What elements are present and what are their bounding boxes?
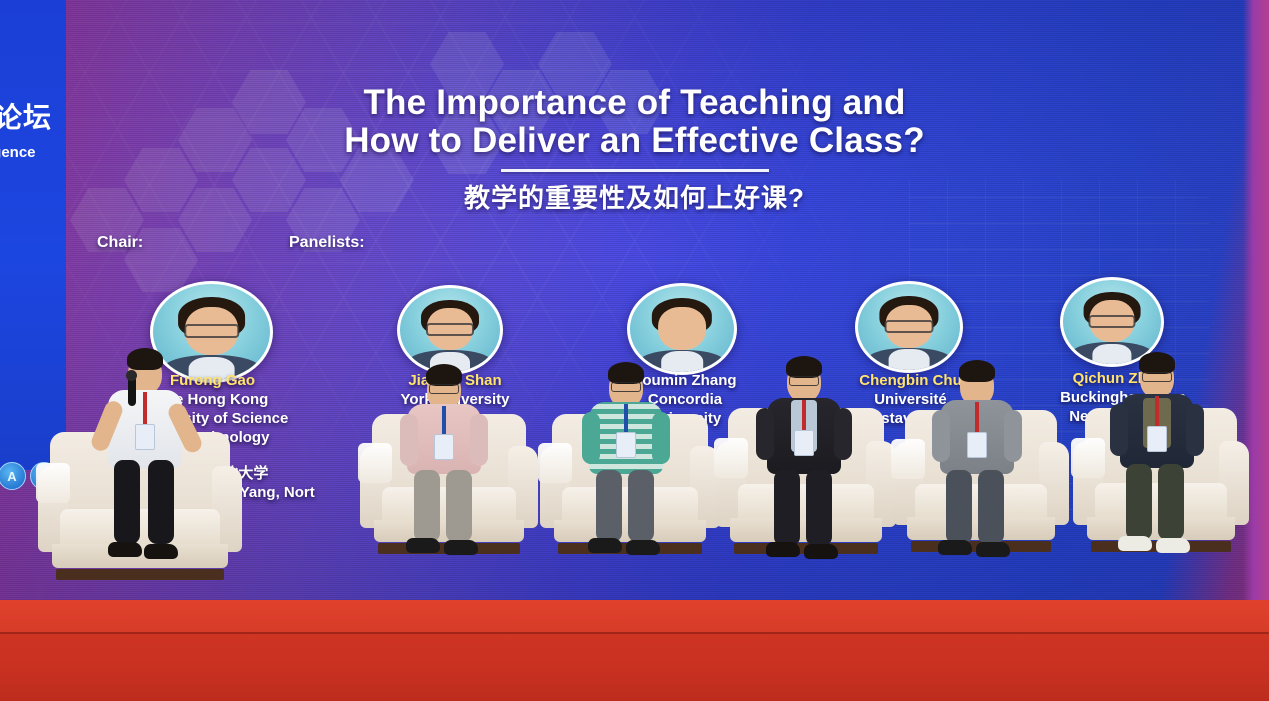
person-arm-left [582, 412, 600, 464]
chair-arm-cover [538, 443, 572, 483]
person-arm-right [470, 414, 488, 466]
name-badge [135, 424, 155, 450]
person-hair [786, 356, 822, 378]
person-shoe-right [444, 540, 478, 555]
person-shoe-left [938, 540, 972, 555]
glasses-icon [885, 320, 934, 333]
person-panelist-youmin-zhang [582, 364, 670, 564]
person-shoe-right [144, 544, 178, 559]
panel-session-photo: The Importance of Teaching and How to De… [0, 0, 1269, 701]
side-banner-chinese: 论坛 [0, 96, 66, 136]
person-arm-left [756, 408, 774, 460]
glasses-icon [789, 376, 819, 386]
chair-arm-cover [891, 439, 925, 479]
person-hair [1139, 352, 1175, 374]
person-arm-left [1110, 404, 1128, 456]
lanyard [1155, 396, 1159, 430]
title-line-1: The Importance of Teaching and [0, 84, 1269, 122]
logo-badge-icon: A [0, 462, 26, 490]
chair-arm-cover [36, 463, 70, 503]
glasses-icon [426, 323, 474, 335]
person-shoe-left [766, 542, 800, 557]
person-leg-right [446, 470, 472, 542]
person-shoe-left [108, 542, 142, 557]
title-block: The Importance of Teaching and How to De… [0, 84, 1269, 215]
person-leg-right [148, 460, 174, 544]
person-leg-left [774, 470, 800, 546]
person-leg-left [114, 460, 140, 544]
person-shoe-left [1118, 536, 1152, 551]
person-hair [959, 360, 995, 382]
person-arm-right [1186, 404, 1204, 456]
lanyard [143, 392, 147, 426]
person-arm-right [1004, 410, 1022, 462]
lanyard [802, 400, 806, 434]
person-panelist-grey-polo [932, 362, 1022, 562]
title-line-2: How to Deliver an Effective Class? [0, 122, 1269, 160]
lanyard [975, 402, 979, 436]
person-leg-left [1126, 464, 1152, 540]
person-hair [127, 348, 163, 370]
person-hair [426, 364, 462, 386]
portrait-face [658, 307, 706, 350]
glasses-icon [429, 384, 459, 394]
person-arm-right [834, 408, 852, 460]
person-panelist-jianjun-shan [400, 366, 488, 566]
portrait-panelist-chengbin-chu [855, 281, 963, 373]
microphone-head [126, 370, 137, 381]
chair-arm-cover [714, 438, 748, 478]
person-shoe-left [588, 538, 622, 553]
chair-arm-cover [358, 443, 392, 483]
person-shoe-right [626, 540, 660, 555]
title-divider [501, 169, 769, 172]
person-arm-left [932, 410, 950, 462]
name-badge [616, 432, 636, 458]
stage-riser-face [0, 634, 1269, 701]
chair-arm-cover [1071, 438, 1105, 478]
portrait-shirt [889, 349, 930, 373]
name-badge [794, 430, 814, 456]
name-badge [967, 432, 987, 458]
side-banner-english: igence [0, 144, 68, 161]
stage-floor-top [0, 600, 1269, 634]
name-badge [1147, 426, 1167, 452]
person-arm-left [400, 414, 418, 466]
person-arm-right [652, 412, 670, 464]
person-shoe-left [406, 538, 440, 553]
title-chinese: 教学的重要性及如何上好课? [0, 178, 1269, 215]
person-panelist-chengbin-chu [758, 358, 850, 566]
portrait-panelist-jianjun-shan [397, 285, 503, 375]
label-chair: Chair: [97, 234, 143, 252]
glasses-icon [184, 324, 239, 338]
person-shoe-right [1156, 538, 1190, 553]
person-panelist-qichun-zhang [1112, 352, 1202, 562]
person-leg-right [1158, 464, 1184, 540]
person-chair-furong-gao [100, 348, 190, 588]
glasses-icon [611, 382, 641, 392]
portrait-panelist-youmin-zhang [627, 283, 737, 375]
person-leg-right [628, 470, 654, 542]
side-banner: 论坛 igence A A C [0, 0, 66, 470]
person-hair [608, 362, 644, 384]
name-badge [434, 434, 454, 460]
person-leg-left [596, 470, 622, 542]
glasses-icon [1088, 315, 1135, 327]
label-panelists: Panelists: [289, 234, 365, 252]
person-leg-left [946, 470, 972, 544]
person-leg-right [978, 470, 1004, 544]
person-shoe-right [804, 544, 838, 559]
person-leg-right [806, 470, 832, 546]
glasses-icon [1142, 372, 1172, 382]
person-leg-left [414, 470, 440, 542]
person-shoe-right [976, 542, 1010, 557]
